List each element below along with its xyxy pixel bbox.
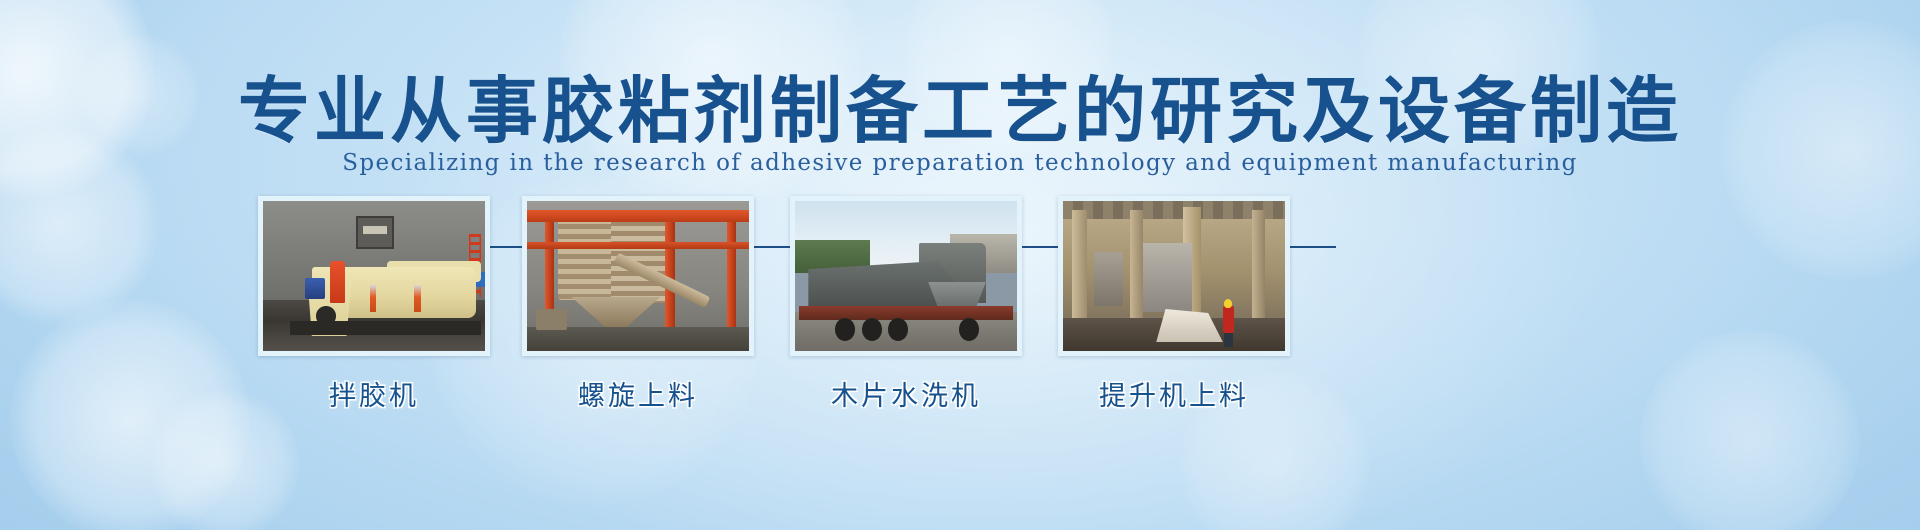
- photo-scene: [263, 201, 485, 351]
- process-photo-strip: 拌胶机 螺旋上料: [0, 196, 1920, 396]
- photo-scene: [795, 201, 1017, 351]
- banner-headline: 专业从事胶粘剂制备工艺的研究及设备制造: [0, 52, 1920, 157]
- wood-chip-washer-photo[interactable]: [790, 196, 1022, 356]
- process-item-2[interactable]: 螺旋上料: [522, 196, 754, 356]
- process-item-3[interactable]: 木片水洗机: [790, 196, 1022, 356]
- promo-banner: 专业从事胶粘剂制备工艺的研究及设备制造 Specializing in the …: [0, 0, 1920, 530]
- process-item-1[interactable]: 拌胶机: [258, 196, 490, 356]
- process-item-4[interactable]: 提升机上料: [1058, 196, 1290, 356]
- process-caption-1: 拌胶机: [258, 374, 490, 413]
- banner-subtitle: Specializing in the research of adhesive…: [0, 150, 1920, 176]
- process-caption-2: 螺旋上料: [522, 374, 754, 413]
- photo-scene: [1063, 201, 1285, 351]
- photo-scene: [527, 201, 749, 351]
- glue-mixer-photo[interactable]: [258, 196, 490, 356]
- process-caption-4: 提升机上料: [1058, 374, 1290, 413]
- bucket-elevator-feeding-photo[interactable]: [1058, 196, 1290, 356]
- process-caption-3: 木片水洗机: [790, 374, 1022, 413]
- spiral-feeder-photo[interactable]: [522, 196, 754, 356]
